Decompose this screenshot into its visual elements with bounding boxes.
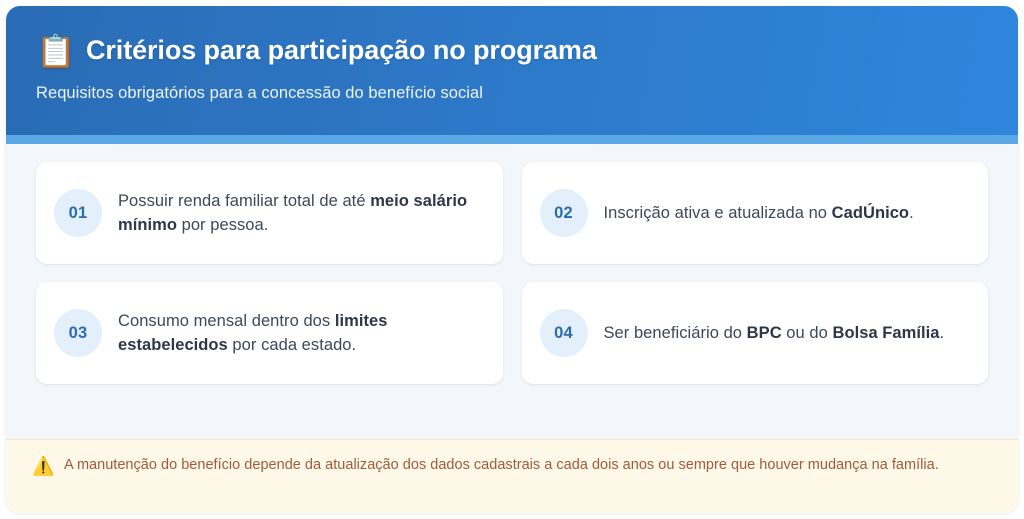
criteria-section: 01Possuir renda familiar total de até me… <box>6 144 1018 439</box>
header-accent-bar <box>6 135 1018 144</box>
criteria-text-plain: ou do <box>782 324 833 342</box>
maintenance-notice: ⚠️ A manutenção do benefício depende da … <box>6 439 1018 513</box>
page-subtitle: Requisitos obrigatórios para a concessão… <box>36 83 988 104</box>
criteria-text: Inscrição ativa e atualizada no CadÚnico… <box>604 201 914 225</box>
criteria-text-emphasis: BPC <box>747 324 782 342</box>
criteria-text-plain: por cada estado. <box>228 336 356 354</box>
criteria-text-plain: por pessoa. <box>177 216 268 234</box>
criteria-text: Possuir renda familiar total de até meio… <box>118 189 483 238</box>
criteria-card: 02Inscrição ativa e atualizada no CadÚni… <box>522 162 989 264</box>
criteria-text-plain: . <box>909 204 914 222</box>
criteria-card: 04Ser beneficiário do BPC ou do Bolsa Fa… <box>522 282 989 384</box>
criteria-infographic: 📋 Critérios para participação no program… <box>0 0 1024 519</box>
criteria-text-emphasis: CadÚnico <box>832 204 909 222</box>
page-title: Critérios para participação no programa <box>86 35 597 66</box>
header: 📋 Critérios para participação no program… <box>6 6 1018 144</box>
criteria-text-plain: Inscrição ativa e atualizada no <box>604 204 832 222</box>
clipboard-icon: 📋 <box>36 35 70 67</box>
panel: 📋 Critérios para participação no program… <box>6 6 1018 513</box>
criteria-number-badge: 04 <box>540 309 588 357</box>
criteria-card: 01Possuir renda familiar total de até me… <box>36 162 503 264</box>
criteria-number-badge: 01 <box>54 189 102 237</box>
header-title-row: 📋 Critérios para participação no program… <box>36 35 988 67</box>
maintenance-notice-text: A manutenção do benefício depende da atu… <box>64 454 939 476</box>
criteria-text-emphasis: Bolsa Família <box>832 324 939 342</box>
criteria-text-plain: Ser beneficiário do <box>604 324 747 342</box>
criteria-text: Consumo mensal dentro dos limites estabe… <box>118 309 483 358</box>
criteria-card: 03Consumo mensal dentro dos limites esta… <box>36 282 503 384</box>
criteria-grid: 01Possuir renda familiar total de até me… <box>36 162 988 384</box>
criteria-number-badge: 02 <box>540 189 588 237</box>
criteria-text: Ser beneficiário do BPC ou do Bolsa Famí… <box>604 321 945 345</box>
criteria-number-badge: 03 <box>54 309 102 357</box>
criteria-text-plain: Consumo mensal dentro dos <box>118 312 335 330</box>
criteria-text-plain: Possuir renda familiar total de até <box>118 192 370 210</box>
warning-icon: ⚠️ <box>32 455 52 478</box>
criteria-text-plain: . <box>940 324 945 342</box>
